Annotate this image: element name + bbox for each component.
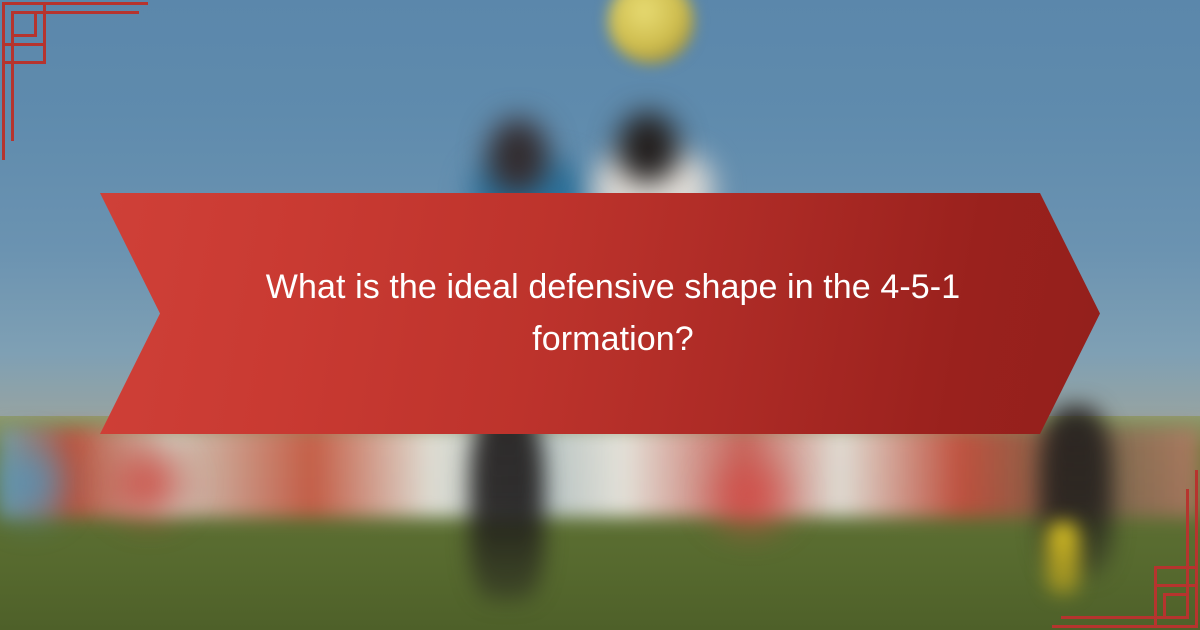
background-spectator-red-right: [690, 452, 810, 538]
banner-canvas: What is the ideal defensive shape in the…: [0, 0, 1200, 630]
background-player-left-head: [487, 118, 549, 198]
question-banner: What is the ideal defensive shape in the…: [100, 193, 1100, 434]
background-spectator-red-left: [94, 438, 204, 528]
background-player-right-head: [617, 112, 679, 186]
background-yellow-sock: [1046, 522, 1080, 594]
question-text: What is the ideal defensive shape in the…: [192, 262, 1008, 365]
